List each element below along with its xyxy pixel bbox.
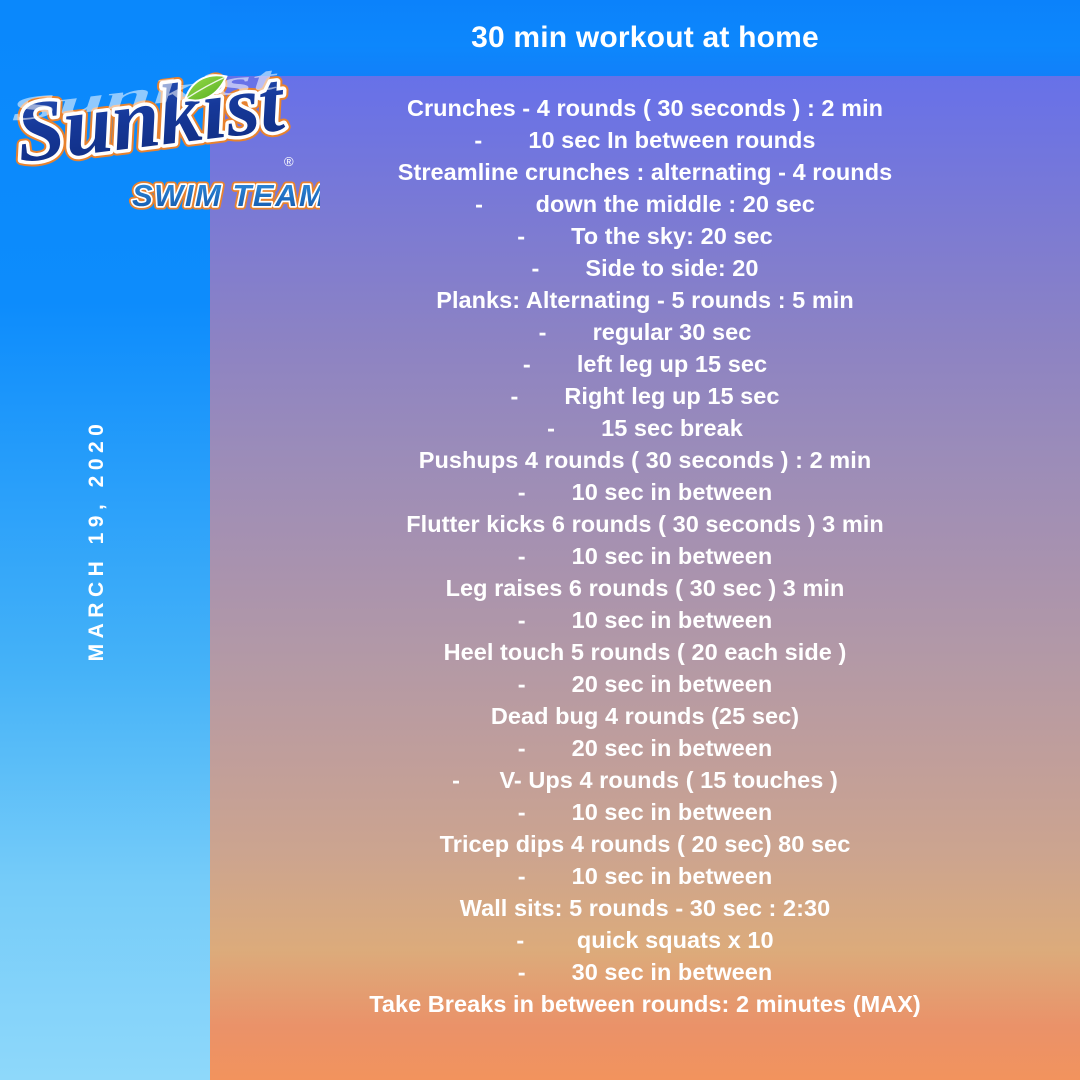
workout-line: - quick squats x 10	[210, 924, 1080, 956]
workout-line: - 20 sec in between	[210, 668, 1080, 700]
logo-artwork: Sunkist Sunkist Sunkist Sunkist ® SWIM T…	[8, 58, 320, 218]
workout-line: Tricep dips 4 rounds ( 20 sec) 80 sec	[210, 828, 1080, 860]
workout-list: Crunches - 4 rounds ( 30 seconds ) : 2 m…	[210, 92, 1080, 1020]
workout-line: - Side to side: 20	[210, 252, 1080, 284]
workout-line: - regular 30 sec	[210, 316, 1080, 348]
workout-line: - 10 sec in between	[210, 540, 1080, 572]
workout-line: - left leg up 15 sec	[210, 348, 1080, 380]
workout-line: - 15 sec break	[210, 412, 1080, 444]
sunkist-wordmark: Sunkist Sunkist Sunkist Sunkist	[8, 58, 291, 181]
workout-line: Crunches - 4 rounds ( 30 seconds ) : 2 m…	[210, 92, 1080, 124]
workout-line: Wall sits: 5 rounds - 30 sec : 2:30	[210, 892, 1080, 924]
workout-line: - Right leg up 15 sec	[210, 380, 1080, 412]
workout-line: Pushups 4 rounds ( 30 seconds ) : 2 min	[210, 444, 1080, 476]
workout-line: Flutter kicks 6 rounds ( 30 seconds ) 3 …	[210, 508, 1080, 540]
page-title: 30 min workout at home	[210, 0, 1080, 76]
workout-line: - 10 sec in between	[210, 604, 1080, 636]
svg-text:SWIM TEAM: SWIM TEAM	[132, 178, 320, 213]
workout-line: - To the sky: 20 sec	[210, 220, 1080, 252]
workout-line: - 10 sec In between rounds	[210, 124, 1080, 156]
workout-line: Take Breaks in between rounds: 2 minutes…	[210, 988, 1080, 1020]
workout-line: Streamline crunches : alternating - 4 ro…	[210, 156, 1080, 188]
workout-line: - 30 sec in between	[210, 956, 1080, 988]
sunkist-swim-team-logo: Sunkist Sunkist Sunkist Sunkist ® SWIM T…	[8, 58, 320, 218]
swim-team-wordmark: SWIM TEAM SWIM TEAM SWIM TEAM	[132, 178, 320, 213]
workout-line: - 10 sec in between	[210, 860, 1080, 892]
registered-trademark-icon: ®	[284, 154, 294, 169]
workout-line: Leg raises 6 rounds ( 30 sec ) 3 min	[210, 572, 1080, 604]
workout-line: - 10 sec in between	[210, 476, 1080, 508]
workout-line: Planks: Alternating - 5 rounds : 5 min	[210, 284, 1080, 316]
workout-line: - down the middle : 20 sec	[210, 188, 1080, 220]
workout-line: - V- Ups 4 rounds ( 15 touches )	[210, 764, 1080, 796]
workout-poster: 30 min workout at home Crunches - 4 roun…	[0, 0, 1080, 1080]
workout-line: Heel touch 5 rounds ( 20 each side )	[210, 636, 1080, 668]
workout-line: - 20 sec in between	[210, 732, 1080, 764]
workout-line: Dead bug 4 rounds (25 sec)	[210, 700, 1080, 732]
workout-line: - 10 sec in between	[210, 796, 1080, 828]
